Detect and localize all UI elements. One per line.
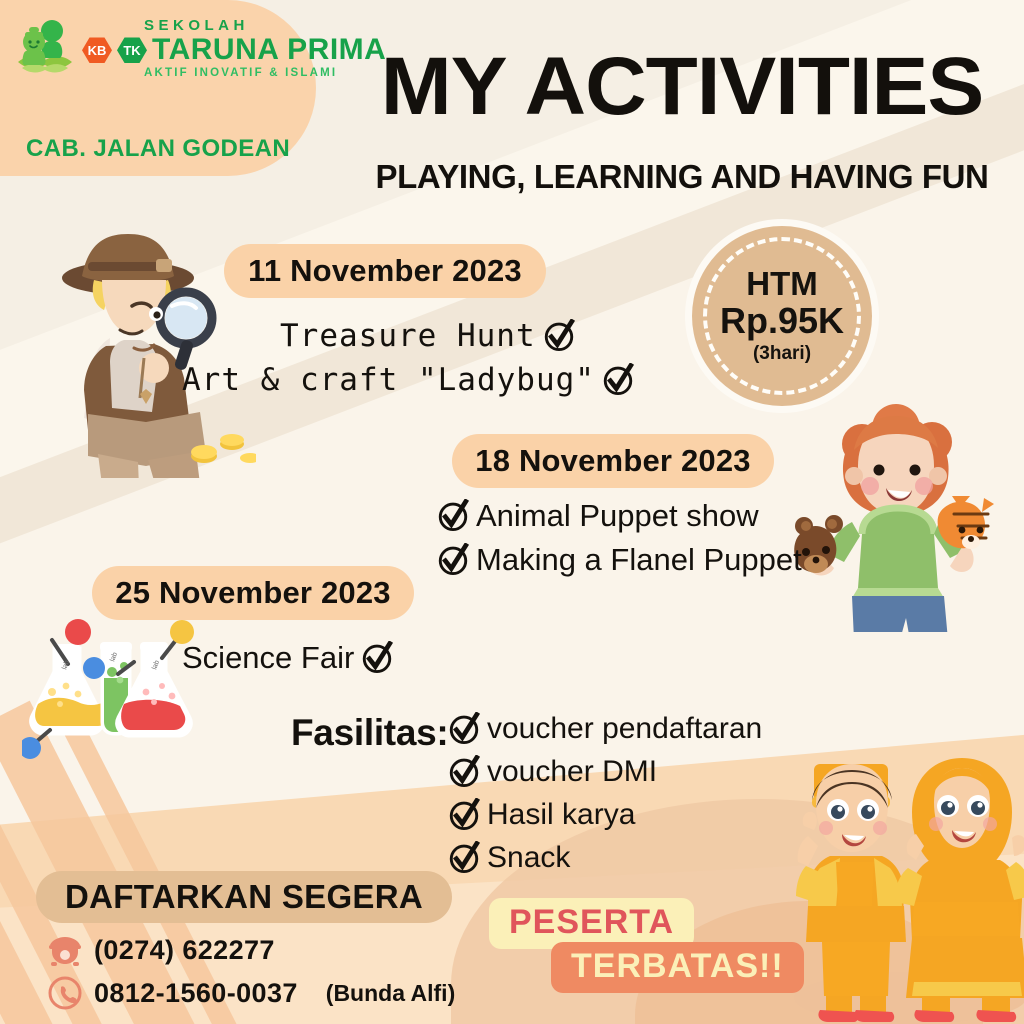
activity-label: Treasure Hunt: [280, 318, 536, 354]
badge-tk: TK: [117, 37, 147, 64]
facility-item: Snack: [447, 841, 570, 875]
activity-item: Treasure Hunt: [280, 318, 576, 354]
puppet-boy-illustration: [792, 384, 1002, 632]
check-circle-icon: [447, 712, 481, 746]
check-circle-icon: [436, 499, 470, 533]
check-circle-icon: [436, 543, 470, 577]
check-circle-icon: [447, 755, 481, 789]
muslim-kids-illustration: [786, 752, 1024, 1024]
check-circle-icon: [447, 841, 481, 875]
check-circle-icon: [447, 798, 481, 832]
brand-line-sekolah: SEKOLAH: [82, 18, 386, 33]
facility-item: Hasil karya: [447, 798, 635, 832]
facility-item: voucher DMI: [447, 755, 657, 789]
price-badge-amount: Rp.95K: [720, 302, 844, 340]
date-pill-1: 11 November 2023: [224, 244, 546, 298]
badge-kb: KB: [82, 37, 112, 64]
facility-label: voucher DMI: [487, 755, 657, 789]
activity-label: Animal Puppet show: [476, 498, 759, 534]
price-badge: HTM Rp.95K (3hari): [692, 226, 872, 406]
page-subtitle: PLAYING, LEARNING AND HAVING FUN: [352, 160, 1012, 193]
phone-number: (0274) 622277: [94, 935, 275, 966]
activity-label: Making a Flanel Puppet: [476, 542, 802, 578]
phone-contact[interactable]: (0274) 622277: [48, 935, 275, 966]
facilities-label: Fasilitas:: [291, 712, 448, 754]
price-badge-duration: (3hari): [753, 343, 811, 365]
register-cta[interactable]: DAFTARKAN SEGERA: [36, 871, 452, 923]
check-circle-icon: [542, 319, 576, 353]
date-pill-3: 25 November 2023: [92, 566, 414, 620]
science-flasks-illustration: lab lab lab: [22, 618, 202, 768]
date-pill-2: 18 November 2023: [452, 434, 774, 488]
brand-branch: CAB. JALAN GODEAN: [26, 135, 290, 163]
facility-item: voucher pendaftaran: [447, 712, 762, 746]
poster-canvas: SEKOLAH KB TK TARUNA PRIMA AKTIF INOVATI…: [0, 0, 1024, 1024]
facility-label: Snack: [487, 841, 570, 875]
page-title: MY ACTIVITIES: [339, 46, 1024, 128]
facility-label: Hasil karya: [487, 798, 635, 832]
activity-item: Animal Puppet show: [436, 498, 759, 534]
activity-item: Science Fair: [182, 640, 394, 676]
activity-label: Science Fair: [182, 640, 354, 676]
school-logo-icon: [14, 16, 76, 82]
check-circle-icon: [601, 363, 635, 397]
whatsapp-icon: [48, 976, 82, 1010]
brand-lockup: SEKOLAH KB TK TARUNA PRIMA AKTIF INOVATI…: [14, 16, 386, 82]
activity-label: Art & craft "Ladybug": [182, 362, 595, 398]
limited-badge-line-2: TERBATAS!!: [551, 942, 804, 993]
explorer-kid-illustration: [36, 218, 256, 478]
activity-item: Art & craft "Ladybug": [182, 362, 635, 398]
activity-item: Making a Flanel Puppet: [436, 542, 802, 578]
check-circle-icon: [360, 641, 394, 675]
price-badge-label: HTM: [746, 267, 817, 302]
whatsapp-contact[interactable]: 0812-1560-0037 (Bunda Alfi): [48, 976, 455, 1010]
telephone-icon: [48, 936, 82, 966]
facility-label: voucher pendaftaran: [487, 712, 762, 746]
contact-person: (Bunda Alfi): [326, 980, 455, 1007]
whatsapp-number: 0812-1560-0037: [94, 978, 298, 1009]
